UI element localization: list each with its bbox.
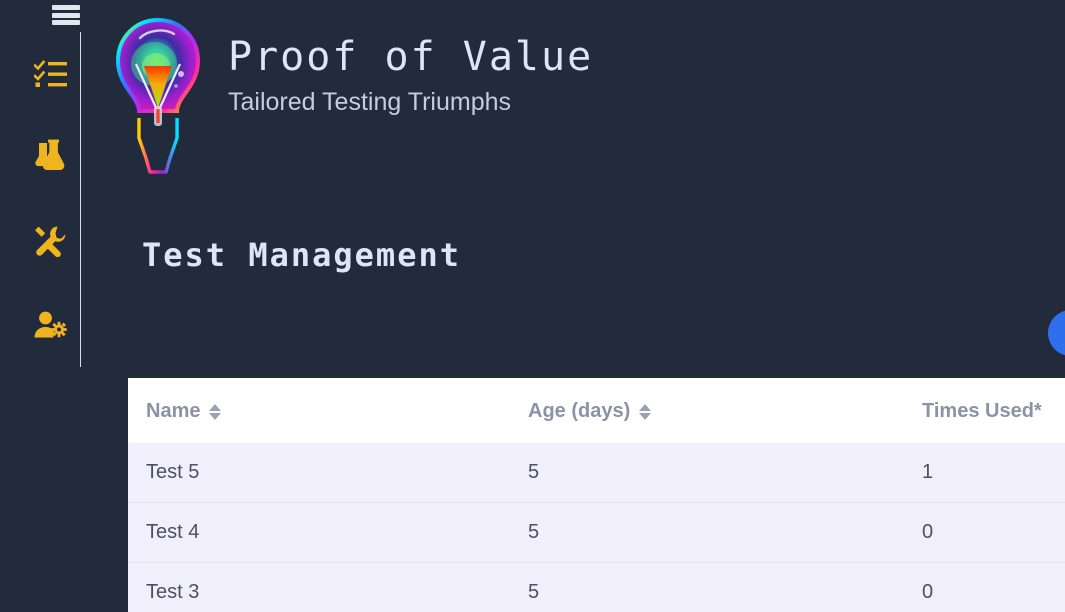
- table-row[interactable]: Test 3 5 0: [128, 563, 1065, 612]
- sidebar-item-tools[interactable]: [32, 222, 70, 260]
- sidebar-item-users[interactable]: [32, 306, 70, 344]
- column-header-name[interactable]: Name: [128, 378, 528, 443]
- sort-ascending-arrow: [209, 404, 221, 411]
- hamburger-icon[interactable]: [52, 2, 80, 28]
- cell-age: 5: [528, 563, 922, 612]
- tests-table-element: Name Age (days): [128, 378, 1065, 612]
- page-title: Test Management: [142, 236, 461, 274]
- column-header-age[interactable]: Age (days): [528, 378, 922, 443]
- user-settings-icon: [34, 311, 68, 339]
- sort-descending-arrow: [639, 413, 651, 420]
- sidebar-divider: [80, 32, 81, 367]
- cell-name: Test 4: [128, 503, 528, 563]
- lightbulb-icon: [110, 16, 206, 182]
- checklist-icon: [34, 59, 68, 89]
- table-row[interactable]: Test 4 5 0: [128, 503, 1065, 563]
- table-body: Test 5 5 1 Test 4 5 0 Test 3 5 0: [128, 443, 1065, 612]
- cell-times-used: 0: [922, 503, 1065, 563]
- column-label-times-used: Times Used*: [922, 400, 1042, 423]
- sidebar-item-experiments[interactable]: [32, 136, 70, 174]
- hamburger-bar: [52, 20, 80, 25]
- sort-descending-arrow: [209, 413, 221, 420]
- sort-icon[interactable]: [639, 404, 651, 420]
- sort-icon[interactable]: [209, 404, 221, 420]
- tools-icon: [34, 225, 68, 257]
- column-header-times-used[interactable]: Times Used*: [922, 378, 1065, 443]
- cell-name: Test 5: [128, 443, 528, 503]
- sidebar-item-tests[interactable]: [32, 55, 70, 93]
- table-header-row: Name Age (days): [128, 378, 1065, 443]
- tests-table: Name Age (days): [128, 378, 1065, 612]
- cell-times-used: 0: [922, 563, 1065, 612]
- sort-ascending-arrow: [639, 404, 651, 411]
- cell-name: Test 3: [128, 563, 528, 612]
- brand-text: Proof of Value Tailored Testing Triumphs: [228, 10, 593, 117]
- hamburger-bar: [52, 13, 80, 18]
- app-tagline: Tailored Testing Triumphs: [228, 88, 593, 117]
- cell-age: 5: [528, 443, 922, 503]
- cell-times-used: 1: [922, 443, 1065, 503]
- app-title: Proof of Value: [228, 36, 593, 78]
- sidebar: [0, 0, 81, 612]
- cell-age: 5: [528, 503, 922, 563]
- table-head: Name Age (days): [128, 378, 1065, 443]
- add-test-button[interactable]: Add Test: [1048, 310, 1065, 356]
- column-label-name: Name: [146, 400, 200, 423]
- brand-header: Proof of Value Tailored Testing Triumphs: [110, 10, 593, 182]
- column-label-age: Age (days): [528, 400, 630, 423]
- app-window: Proof of Value Tailored Testing Triumphs…: [0, 0, 1065, 612]
- flask-icon: [34, 139, 68, 171]
- hamburger-bar: [52, 5, 80, 10]
- table-row[interactable]: Test 5 5 1: [128, 443, 1065, 503]
